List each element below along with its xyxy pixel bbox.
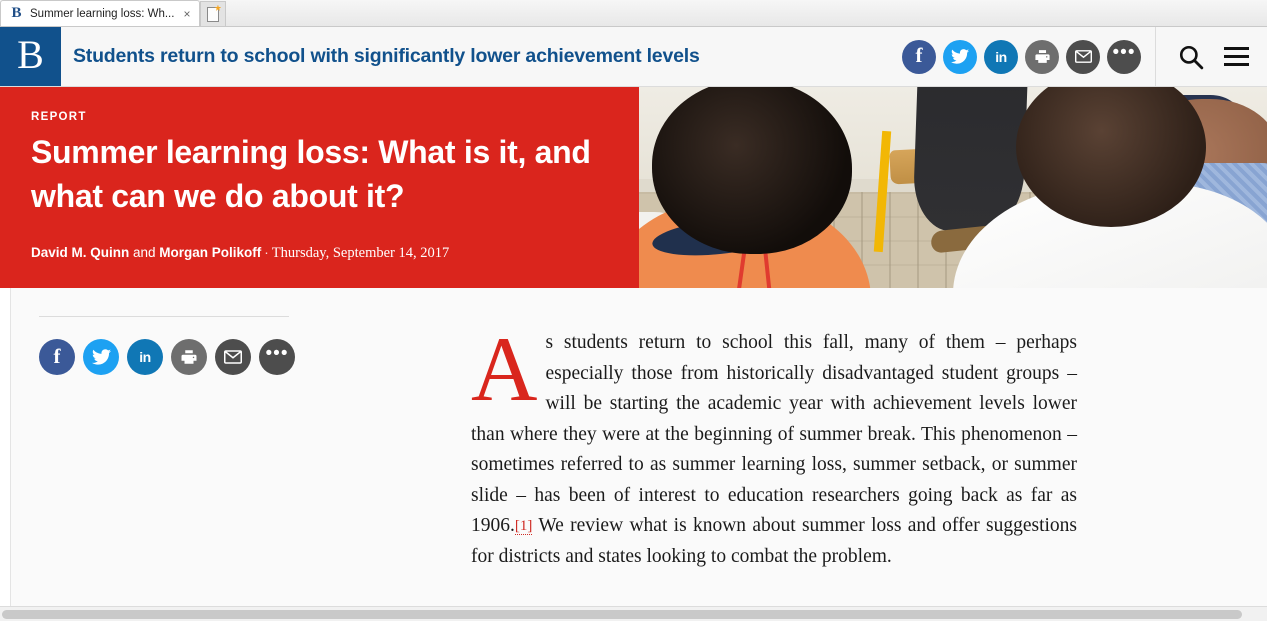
menu-bar-2 [1224, 55, 1249, 58]
linkedin-glyph: in [139, 350, 150, 364]
print-icon[interactable] [1025, 40, 1059, 74]
header-tools [1155, 27, 1267, 86]
new-tab-button[interactable] [200, 1, 226, 26]
paragraph-text-part-2: We review what is known about summer los… [471, 515, 1077, 567]
content-type-kicker: REPORT [31, 111, 609, 123]
twitter-icon[interactable] [943, 40, 977, 74]
page-title: Students return to school with significa… [61, 27, 902, 86]
scrollbar-thumb[interactable] [2, 610, 1242, 619]
email-icon[interactable] [215, 339, 251, 375]
article-column: As students return to school this fall, … [466, 288, 1267, 620]
menu-bar-3 [1224, 63, 1249, 66]
browser-tab-title: Summer learning loss: Wh... [30, 8, 174, 20]
article-body: f in ••• As stu [10, 288, 1267, 620]
linkedin-glyph: in [995, 50, 1006, 64]
more-options-icon[interactable]: ••• [259, 339, 295, 375]
more-options-icon[interactable]: ••• [1107, 40, 1141, 74]
horizontal-scrollbar[interactable] [0, 606, 1267, 621]
site-header: B Students return to school with signifi… [0, 27, 1267, 87]
byline-conjunction: and [129, 245, 159, 260]
twitter-icon[interactable] [83, 339, 119, 375]
brookings-logo[interactable]: B [0, 27, 61, 86]
ellipsis-glyph: ••• [1113, 48, 1136, 65]
facebook-glyph: f [54, 346, 61, 369]
new-page-icon [207, 7, 219, 22]
brookings-favicon-icon: B [9, 6, 24, 21]
header-share-bar: f in ••• [902, 27, 1155, 86]
browser-tab-active[interactable]: B Summer learning loss: Wh... × [0, 0, 200, 26]
browser-viewport: B Summer learning loss: Wh... × B Studen… [0, 0, 1267, 621]
menu-bar-1 [1224, 47, 1249, 50]
byline: David M. Quinn and Morgan Polikoff·Thurs… [31, 245, 449, 262]
sidebar-share-icons: f in ••• [39, 339, 466, 375]
article-headline: Summer learning loss: What is it, and wh… [31, 130, 609, 218]
facebook-icon[interactable]: f [902, 40, 936, 74]
author-name-2[interactable]: Morgan Polikoff [159, 245, 261, 260]
email-icon[interactable] [1066, 40, 1100, 74]
photo-student-1-head [652, 87, 852, 254]
article-hero: REPORT Summer learning loss: What is it,… [0, 87, 1267, 288]
facebook-glyph: f [916, 45, 923, 68]
footnote-link-1[interactable]: [1] [515, 518, 533, 535]
drop-cap: A [471, 330, 545, 406]
close-icon[interactable]: × [180, 8, 193, 20]
publish-date: Thursday, September 14, 2017 [272, 245, 449, 261]
linkedin-icon[interactable]: in [984, 40, 1018, 74]
ellipsis-glyph: ••• [266, 349, 289, 366]
paragraph-text-part-1: s students return to school this fall, m… [471, 332, 1077, 536]
print-icon[interactable] [171, 339, 207, 375]
search-icon[interactable] [1178, 44, 1204, 70]
facebook-icon[interactable]: f [39, 339, 75, 375]
linkedin-icon[interactable]: in [127, 339, 163, 375]
byline-separator: · [261, 245, 272, 260]
sidebar-share-rail: f in ••• [11, 288, 466, 620]
rail-divider [39, 316, 289, 317]
menu-icon[interactable] [1224, 47, 1249, 66]
hero-photo [639, 87, 1267, 288]
author-name-1[interactable]: David M. Quinn [31, 245, 129, 260]
browser-tab-bar: B Summer learning loss: Wh... × [0, 0, 1267, 27]
hero-text-panel: REPORT Summer learning loss: What is it,… [0, 87, 639, 288]
article-first-paragraph: As students return to school this fall, … [471, 328, 1077, 572]
tab-strip: B Summer learning loss: Wh... × [0, 0, 226, 26]
